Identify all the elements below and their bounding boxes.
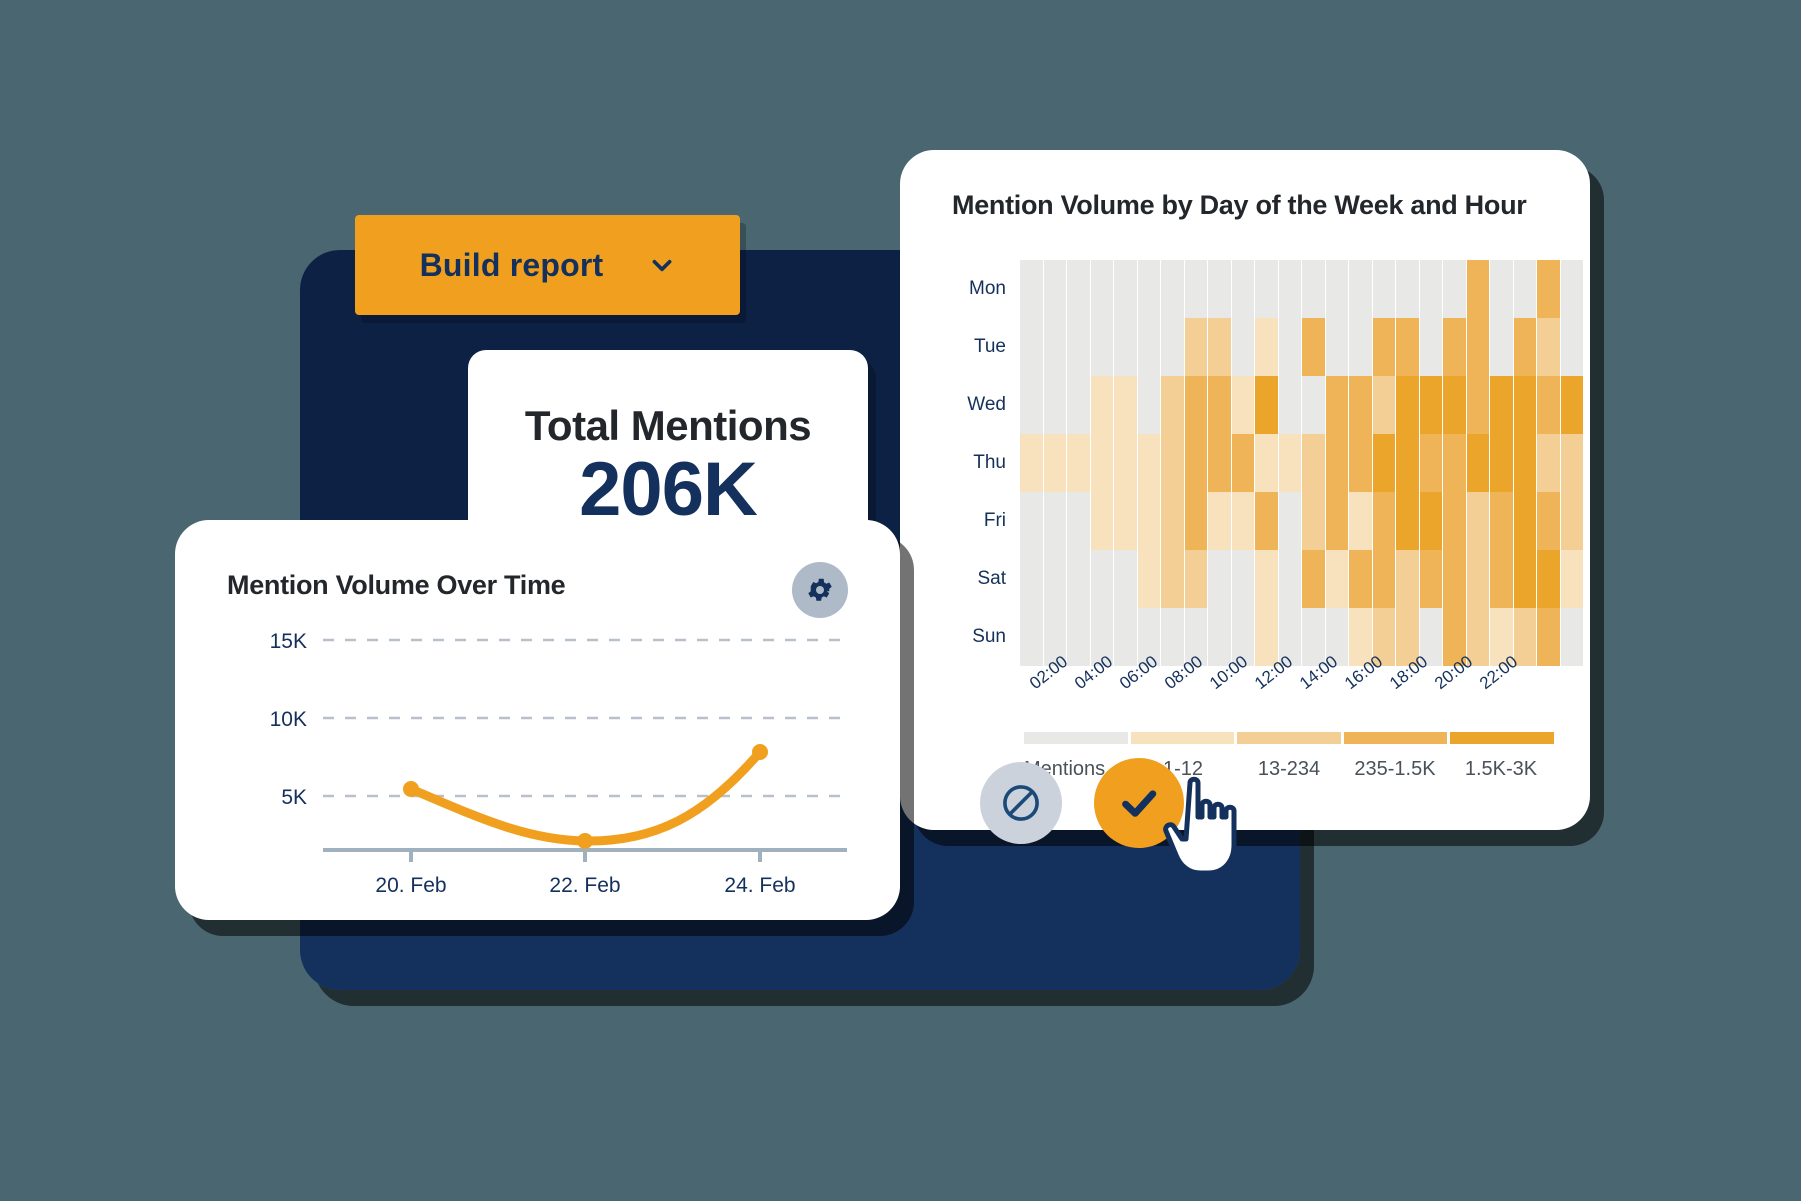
- heatmap-cell[interactable]: [1443, 550, 1467, 609]
- heatmap-cell[interactable]: [1138, 318, 1162, 377]
- heatmap-cell[interactable]: [1091, 318, 1115, 377]
- heatmap-cell[interactable]: [1185, 318, 1209, 377]
- heatmap-cell[interactable]: [1067, 434, 1091, 493]
- heatmap-cell[interactable]: [1561, 608, 1585, 667]
- heatmap-row-cells[interactable]: [1020, 318, 1584, 376]
- heatmap-cell[interactable]: [1067, 376, 1091, 435]
- heatmap-cell[interactable]: [1255, 318, 1279, 377]
- heatmap-cell[interactable]: [1396, 492, 1420, 551]
- heatmap-cell[interactable]: [1514, 434, 1538, 493]
- heatmap-cell[interactable]: [1514, 318, 1538, 377]
- heatmap-cell[interactable]: [1044, 550, 1068, 609]
- heatmap-cell[interactable]: [1044, 318, 1068, 377]
- heatmap-row-cells[interactable]: [1020, 260, 1584, 318]
- heatmap-cell[interactable]: [1514, 492, 1538, 551]
- heatmap-day-label: Tue: [948, 336, 1020, 358]
- ytick-5k: 5K: [281, 786, 307, 809]
- heatmap-cell[interactable]: [1091, 376, 1115, 435]
- heatmap-cell[interactable]: [1138, 492, 1162, 551]
- heatmap-cell[interactable]: [1561, 376, 1585, 435]
- heatmap-row-cells[interactable]: [1020, 550, 1584, 608]
- heatmap-cell[interactable]: [1279, 318, 1303, 377]
- heatmap-cell[interactable]: [1467, 434, 1491, 493]
- heatmap-cell[interactable]: [1420, 318, 1444, 377]
- heatmap-cell[interactable]: [1302, 492, 1326, 551]
- heatmap-cell[interactable]: [1302, 318, 1326, 377]
- heatmap-plot: MonTueWedThuFriSatSun 02:0004:0006:0008:…: [900, 242, 1590, 722]
- heatmap-day-label: Mon: [948, 278, 1020, 300]
- heatmap-cell[interactable]: [1138, 376, 1162, 435]
- heatmap-cell[interactable]: [1208, 608, 1232, 667]
- heatmap-cell[interactable]: [1232, 550, 1256, 609]
- heatmap-cell[interactable]: [1326, 260, 1350, 319]
- heatmap-row-sun: Sun: [948, 608, 1584, 666]
- heatmap-cell[interactable]: [1326, 434, 1350, 493]
- heatmap-row-cells[interactable]: [1020, 492, 1584, 550]
- chevron-down-icon: [649, 252, 675, 278]
- heatmap-cell[interactable]: [1326, 550, 1350, 609]
- heatmap-cell[interactable]: [1091, 492, 1115, 551]
- heatmap-cell[interactable]: [1302, 550, 1326, 609]
- heatmap-day-label: Wed: [948, 394, 1020, 416]
- total-mentions-value: 206K: [579, 452, 757, 528]
- heatmap-cell[interactable]: [1514, 608, 1538, 667]
- heatmap-cell[interactable]: [1537, 550, 1561, 609]
- heatmap-cell[interactable]: [1067, 608, 1091, 667]
- heatmap-cell[interactable]: [1420, 260, 1444, 319]
- heatmap-cell[interactable]: [1537, 608, 1561, 667]
- heatmap-cell[interactable]: [1537, 434, 1561, 493]
- heatmap-cell[interactable]: [1161, 492, 1185, 551]
- heatmap-cell[interactable]: [1114, 318, 1138, 377]
- approve-button[interactable]: [1094, 758, 1184, 848]
- heatmap-cell[interactable]: [1067, 318, 1091, 377]
- heatmap-cell[interactable]: [1537, 260, 1561, 319]
- data-point-20feb: [403, 781, 419, 797]
- heatmap-cell[interactable]: [1490, 550, 1514, 609]
- heatmap-cell[interactable]: [1537, 492, 1561, 551]
- heatmap-cell[interactable]: [1091, 434, 1115, 493]
- heatmap-cell[interactable]: [1373, 492, 1397, 551]
- heatmap-cell[interactable]: [1232, 492, 1256, 551]
- heatmap-cell[interactable]: [1020, 434, 1044, 493]
- heatmap-cell[interactable]: [1326, 376, 1350, 435]
- heatmap-cell[interactable]: [1490, 492, 1514, 551]
- heatmap-cell[interactable]: [1514, 376, 1538, 435]
- heatmap-card: Mention Volume by Day of the Week and Ho…: [900, 150, 1590, 830]
- heatmap-cell[interactable]: [1114, 608, 1138, 667]
- heatmap-row-fri: Fri: [948, 492, 1584, 550]
- heatmap-cell[interactable]: [1279, 550, 1303, 609]
- heatmap-cell[interactable]: [1420, 550, 1444, 609]
- heatmap-cell[interactable]: [1490, 434, 1514, 493]
- heatmap-cell[interactable]: [1467, 550, 1491, 609]
- heatmap-day-label: Sat: [948, 568, 1020, 590]
- heatmap-cell[interactable]: [1420, 492, 1444, 551]
- heatmap-cell[interactable]: [1443, 434, 1467, 493]
- heatmap-cell[interactable]: [1161, 376, 1185, 435]
- heatmap-cell[interactable]: [1185, 260, 1209, 319]
- heatmap-cell[interactable]: [1185, 492, 1209, 551]
- heatmap-cell[interactable]: [1443, 376, 1467, 435]
- heatmap-cell[interactable]: [1467, 492, 1491, 551]
- ytick-15k: 15K: [270, 630, 307, 653]
- heatmap-row-sat: Sat: [948, 550, 1584, 608]
- heatmap-cell[interactable]: [1349, 434, 1373, 493]
- heatmap-grid[interactable]: MonTueWedThuFriSatSun: [948, 260, 1584, 666]
- heatmap-day-label: Fri: [948, 510, 1020, 532]
- heatmap-cell[interactable]: [1255, 434, 1279, 493]
- heatmap-cell[interactable]: [1420, 434, 1444, 493]
- heatmap-cell[interactable]: [1279, 492, 1303, 551]
- heatmap-cell[interactable]: [1020, 550, 1044, 609]
- deny-button[interactable]: [980, 762, 1062, 844]
- heatmap-cell[interactable]: [1020, 492, 1044, 551]
- heatmap-cell[interactable]: [1138, 550, 1162, 609]
- heatmap-cell[interactable]: [1467, 318, 1491, 377]
- approve-label: Approve: [1083, 864, 1203, 895]
- heatmap-cell[interactable]: [1373, 376, 1397, 435]
- heatmap-cell[interactable]: [1561, 492, 1585, 551]
- heatmap-cell[interactable]: [1255, 550, 1279, 609]
- heatmap-cell[interactable]: [1326, 318, 1350, 377]
- legend-label: 13-234: [1236, 758, 1342, 781]
- heatmap-cell[interactable]: [1161, 318, 1185, 377]
- heatmap-cell[interactable]: [1232, 376, 1256, 435]
- check-icon: [1116, 780, 1162, 826]
- heatmap-cell[interactable]: [1114, 492, 1138, 551]
- heatmap-cell[interactable]: [1326, 492, 1350, 551]
- legend-swatch: [1131, 732, 1235, 744]
- xtick-20feb: 20. Feb: [375, 874, 446, 897]
- heatmap-cell[interactable]: [1490, 376, 1514, 435]
- heatmap-cell[interactable]: [1208, 260, 1232, 319]
- heatmap-cell[interactable]: [1561, 434, 1585, 493]
- heatmap-cell[interactable]: [1443, 492, 1467, 551]
- heatmap-cell[interactable]: [1349, 492, 1373, 551]
- heatmap-cell[interactable]: [1514, 260, 1538, 319]
- heatmap-cell[interactable]: [1161, 550, 1185, 609]
- heatmap-cell[interactable]: [1232, 260, 1256, 319]
- heatmap-cell[interactable]: [1044, 376, 1068, 435]
- xtick-22feb: 22. Feb: [549, 874, 620, 897]
- heatmap-cell[interactable]: [1232, 318, 1256, 377]
- heatmap-cell[interactable]: [1279, 434, 1303, 493]
- heatmap-cell[interactable]: [1208, 550, 1232, 609]
- heatmap-cell[interactable]: [1067, 550, 1091, 609]
- heatmap-cell[interactable]: [1044, 260, 1068, 319]
- heatmap-cell[interactable]: [1114, 434, 1138, 493]
- heatmap-cell[interactable]: [1561, 550, 1585, 609]
- heatmap-cell[interactable]: [1091, 260, 1115, 319]
- data-point-24feb: [752, 744, 768, 760]
- heatmap-cell[interactable]: [1044, 492, 1068, 551]
- heatmap-row-cells[interactable]: [1020, 376, 1584, 434]
- legend-swatch: [1450, 732, 1554, 744]
- heatmap-cell[interactable]: [1302, 260, 1326, 319]
- heatmap-cell[interactable]: [1443, 318, 1467, 377]
- heatmap-cell[interactable]: [1279, 260, 1303, 319]
- ytick-10k: 10K: [270, 708, 307, 731]
- heatmap-cell[interactable]: [1349, 318, 1373, 377]
- heatmap-cell[interactable]: [1396, 434, 1420, 493]
- heatmap-cell[interactable]: [1255, 492, 1279, 551]
- heatmap-cell[interactable]: [1161, 260, 1185, 319]
- heatmap-cell[interactable]: [1208, 318, 1232, 377]
- heatmap-cell[interactable]: [1561, 318, 1585, 377]
- heatmap-cell[interactable]: [1373, 260, 1397, 319]
- heatmap-cell[interactable]: [1255, 376, 1279, 435]
- heatmap-day-label: Thu: [948, 452, 1020, 474]
- heatmap-row-thu: Thu: [948, 434, 1584, 492]
- heatmap-row-mon: Mon: [948, 260, 1584, 318]
- heatmap-cell[interactable]: [1302, 434, 1326, 493]
- heatmap-cell[interactable]: [1373, 550, 1397, 609]
- heatmap-cell[interactable]: [1161, 434, 1185, 493]
- heatmap-cell[interactable]: [1396, 260, 1420, 319]
- heatmap-cell[interactable]: [1373, 318, 1397, 377]
- heatmap-cell[interactable]: [1114, 260, 1138, 319]
- heatmap-cell[interactable]: [1232, 434, 1256, 493]
- heatmap-cell[interactable]: [1349, 260, 1373, 319]
- heatmap-row-tue: Tue: [948, 318, 1584, 376]
- heatmap-cell[interactable]: [1138, 260, 1162, 319]
- heatmap-cell[interactable]: [1467, 260, 1491, 319]
- heatmap-cell[interactable]: [1279, 376, 1303, 435]
- heatmap-cell[interactable]: [1490, 318, 1514, 377]
- line-chart-plot: 15K 10K 5K 20. Feb 22. Feb 24. Feb: [175, 520, 900, 920]
- data-point-22feb: [577, 833, 593, 849]
- heatmap-cell[interactable]: [1396, 550, 1420, 609]
- dashboard-illustration: Build report Total Mentions 206K Mention…: [0, 0, 1801, 1201]
- heatmap-row-wed: Wed: [948, 376, 1584, 434]
- legend-label: 235-1.5K: [1342, 758, 1448, 781]
- block-icon: [998, 780, 1044, 826]
- heatmap-cell[interactable]: [1208, 492, 1232, 551]
- heatmap-cell[interactable]: [1208, 434, 1232, 493]
- heatmap-cell[interactable]: [1091, 550, 1115, 609]
- heatmap-cell[interactable]: [1514, 550, 1538, 609]
- heatmap-cell[interactable]: [1208, 376, 1232, 435]
- heatmap-cell[interactable]: [1373, 434, 1397, 493]
- total-mentions-title: Total Mentions: [525, 402, 811, 450]
- heatmap-cell[interactable]: [1067, 492, 1091, 551]
- legend-label: 1.5K-3K: [1448, 758, 1554, 781]
- heatmap-cell[interactable]: [1349, 376, 1373, 435]
- heatmap-cell[interactable]: [1396, 376, 1420, 435]
- heatmap-cell[interactable]: [1420, 376, 1444, 435]
- heatmap-cell[interactable]: [1302, 376, 1326, 435]
- heatmap-cell[interactable]: [1067, 260, 1091, 319]
- heatmap-cell[interactable]: [1044, 434, 1068, 493]
- heatmap-cell[interactable]: [1490, 260, 1514, 319]
- heatmap-cell[interactable]: [1138, 434, 1162, 493]
- heatmap-cell[interactable]: [1185, 434, 1209, 493]
- heatmap-cell[interactable]: [1020, 608, 1044, 667]
- heatmap-row-cells[interactable]: [1020, 434, 1584, 492]
- heatmap-cell[interactable]: [1114, 376, 1138, 435]
- heatmap-day-label: Sun: [948, 626, 1020, 648]
- build-report-label: Build report: [420, 247, 604, 284]
- legend-swatch: [1344, 732, 1448, 744]
- heatmap-cell[interactable]: [1537, 318, 1561, 377]
- heatmap-cell[interactable]: [1185, 376, 1209, 435]
- heatmap-cell[interactable]: [1020, 260, 1044, 319]
- heatmap-cell[interactable]: [1255, 260, 1279, 319]
- build-report-button[interactable]: Build report: [355, 215, 740, 315]
- heatmap-cell[interactable]: [1349, 550, 1373, 609]
- xtick-24feb: 24. Feb: [724, 874, 795, 897]
- heatmap-cell[interactable]: [1443, 260, 1467, 319]
- heatmap-cell[interactable]: [1561, 260, 1585, 319]
- heatmap-title: Mention Volume by Day of the Week and Ho…: [952, 190, 1526, 221]
- heatmap-cell[interactable]: [1020, 318, 1044, 377]
- line-chart-card: Mention Volume Over Time 15K 10K 5K: [175, 520, 900, 920]
- heatmap-cell[interactable]: [1185, 550, 1209, 609]
- legend-swatch: [1024, 732, 1128, 744]
- heatmap-cell[interactable]: [1537, 376, 1561, 435]
- heatmap-cell[interactable]: [1114, 550, 1138, 609]
- legend-swatch: [1237, 732, 1341, 744]
- heatmap-cell[interactable]: [1467, 376, 1491, 435]
- heatmap-cell[interactable]: [1161, 608, 1185, 667]
- heatmap-cell[interactable]: [1396, 318, 1420, 377]
- heatmap-cell[interactable]: [1020, 376, 1044, 435]
